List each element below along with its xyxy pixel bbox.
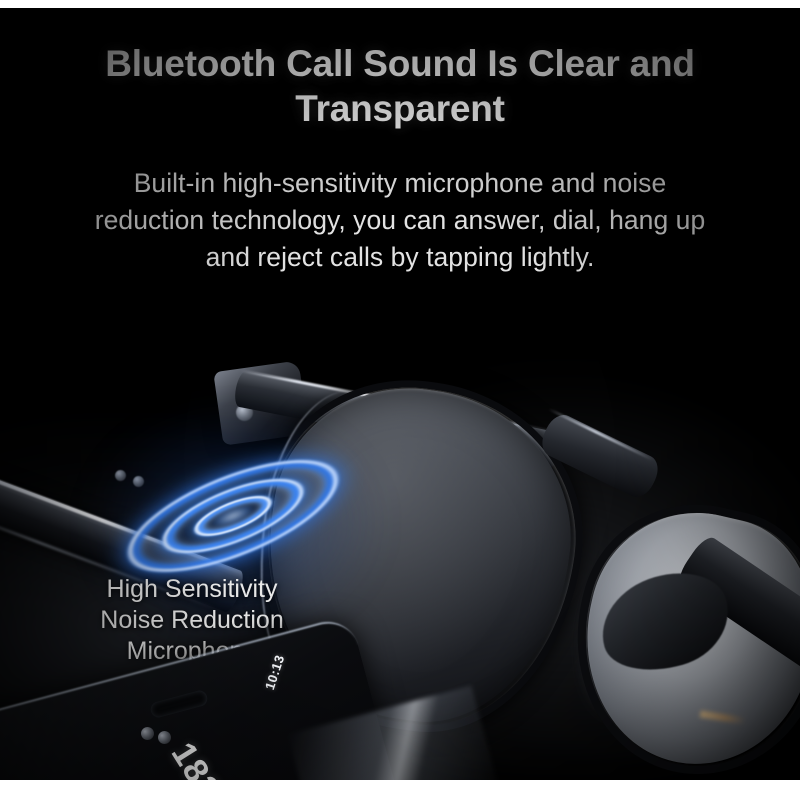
product-marketing-slide: Bluetooth Call Sound Is Clear and Transp…: [0, 0, 800, 800]
slide-stage: Bluetooth Call Sound Is Clear and Transp…: [0, 8, 800, 780]
body-description: Built-in high-sensitivity microphone and…: [30, 165, 770, 276]
microphone-port-icon: [133, 476, 144, 487]
page-title: Bluetooth Call Sound Is Clear and Transp…: [40, 41, 760, 131]
microphone-port-icon: [115, 470, 126, 481]
